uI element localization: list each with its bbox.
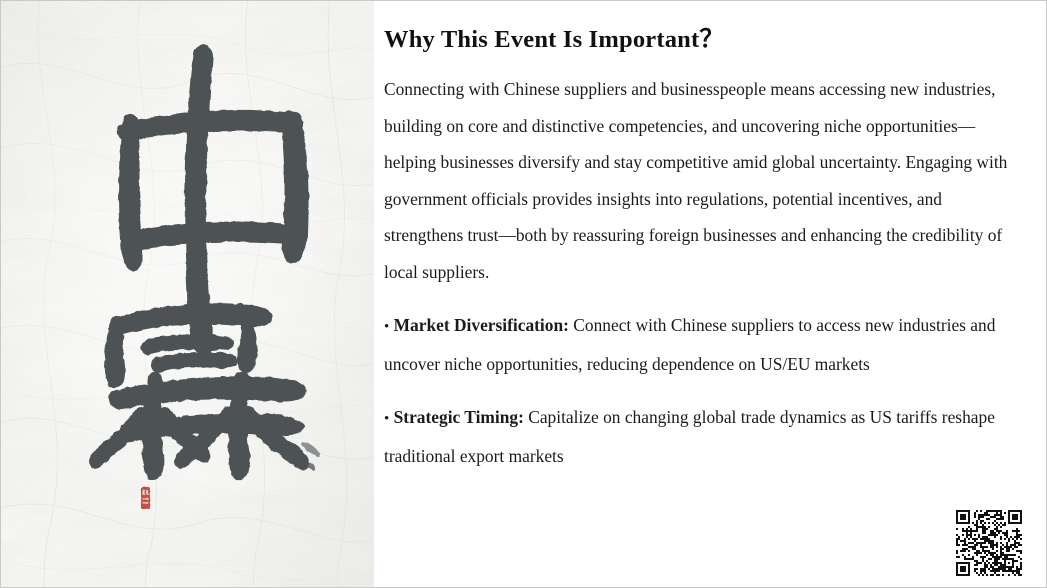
- red-seal-stamp: [139, 485, 152, 511]
- bullet-lead-label: Market Diversification:: [394, 315, 569, 335]
- content-panel: Why This Event Is Important？ Connecting …: [374, 1, 1047, 588]
- bullet-marker: •: [384, 319, 389, 335]
- bullet-item-market-diversification: • Market Diversification: Connect with C…: [384, 307, 1022, 382]
- calligraphy-characters: [1, 1, 374, 588]
- intro-paragraph: Connecting with Chinese suppliers and bu…: [384, 71, 1022, 290]
- qr-code[interactable]: [956, 510, 1022, 576]
- bullet-lead-label: Strategic Timing:: [394, 407, 524, 427]
- qr-code-image: [956, 510, 1022, 576]
- page-title: Why This Event Is Important？: [384, 25, 1022, 54]
- bullet-item-strategic-timing: • Strategic Timing: Capitalize on changi…: [384, 399, 1022, 474]
- calligraphy-art-panel: [1, 1, 374, 588]
- slide-root: Why This Event Is Important？ Connecting …: [0, 0, 1047, 588]
- bullet-marker: •: [384, 411, 389, 427]
